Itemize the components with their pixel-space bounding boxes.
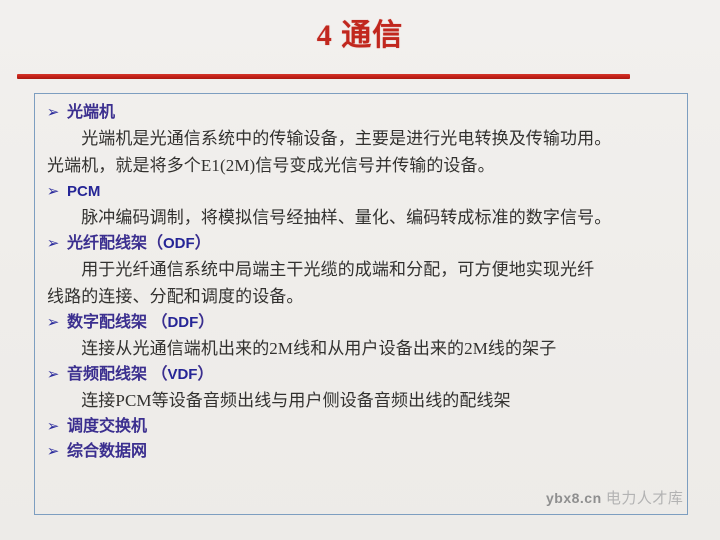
heading-acronym: VDF bbox=[167, 366, 197, 383]
list-item-heading: 光端机 bbox=[67, 100, 115, 125]
list-item[interactable]: ➢ 光纤配线架（ODF） bbox=[39, 231, 685, 256]
list-item-heading: 音频配线架 （VDF） bbox=[67, 362, 213, 387]
bullet-arrow-icon: ➢ bbox=[39, 100, 67, 125]
heading-tail: ） bbox=[198, 314, 214, 331]
bullet-arrow-icon: ➢ bbox=[39, 179, 67, 204]
heading-text: 数字配线架 （ bbox=[67, 314, 167, 331]
title-area: 4 通信 bbox=[0, 16, 720, 56]
bullet-arrow-icon: ➢ bbox=[39, 414, 67, 439]
bullet-arrow-icon: ➢ bbox=[39, 439, 67, 464]
heading-tail: ） bbox=[195, 235, 211, 252]
list-item[interactable]: ➢ 光端机 bbox=[39, 100, 685, 125]
page-title: 4 通信 bbox=[317, 16, 404, 56]
bullet-arrow-icon: ➢ bbox=[39, 231, 67, 256]
watermark-domain: ybx8.cn bbox=[546, 490, 602, 506]
list-item-paragraph: 连接PCM等设备音频出线与用户侧设备音频出线的配线架 bbox=[39, 387, 685, 414]
list-item[interactable]: ➢ 综合数据网 bbox=[39, 439, 685, 464]
bullet-arrow-icon: ➢ bbox=[39, 310, 67, 335]
list-item-paragraph: 线路的连接、分配和调度的设备。 bbox=[39, 283, 685, 310]
heading-acronym: DDF bbox=[167, 314, 198, 331]
heading-text: 音频配线架 （ bbox=[67, 366, 167, 383]
list-item-heading: 光纤配线架（ODF） bbox=[67, 231, 211, 256]
list-item-heading: 综合数据网 bbox=[67, 439, 147, 464]
list-item-heading: PCM bbox=[67, 179, 100, 204]
watermark-label: 电力人才库 bbox=[606, 491, 684, 507]
list-item[interactable]: ➢ PCM bbox=[39, 179, 685, 204]
heading-text: 光纤配线架（ bbox=[67, 235, 163, 252]
list-item-heading: 调度交换机 bbox=[67, 414, 147, 439]
list-item-paragraph: 光端机是光通信系统中的传输设备，主要是进行光电转换及传输功用。 bbox=[39, 125, 685, 152]
list-item-paragraph: 脉冲编码调制，将模拟信号经抽样、量化、编码转成标准的数字信号。 bbox=[39, 204, 685, 231]
title-underline-rule bbox=[17, 74, 630, 79]
heading-acronym: ODF bbox=[163, 235, 195, 252]
heading-tail: ） bbox=[197, 366, 213, 383]
content-box: ➢ 光端机 光端机是光通信系统中的传输设备，主要是进行光电转换及传输功用。 光端… bbox=[34, 93, 688, 515]
list-item-paragraph: 用于光纤通信系统中局端主干光缆的成端和分配，可方便地实现光纤 bbox=[39, 256, 685, 283]
bullet-arrow-icon: ➢ bbox=[39, 362, 67, 387]
list-item-heading: 数字配线架 （DDF） bbox=[67, 310, 214, 335]
list-item[interactable]: ➢ 数字配线架 （DDF） bbox=[39, 310, 685, 335]
list-item[interactable]: ➢ 调度交换机 bbox=[39, 414, 685, 439]
list-item-paragraph: 光端机，就是将多个E1(2M)信号变成光信号并传输的设备。 bbox=[39, 152, 685, 179]
slide-canvas: 4 通信 ➢ 光端机 光端机是光通信系统中的传输设备，主要是进行光电转换及传输功… bbox=[0, 0, 720, 540]
list-item[interactable]: ➢ 音频配线架 （VDF） bbox=[39, 362, 685, 387]
content-list: ➢ 光端机 光端机是光通信系统中的传输设备，主要是进行光电转换及传输功用。 光端… bbox=[35, 94, 689, 464]
watermark: ybx8.cn 电力人才库 bbox=[546, 488, 683, 509]
list-item-paragraph: 连接从光通信端机出来的2M线和从用户设备出来的2M线的架子 bbox=[39, 335, 685, 362]
